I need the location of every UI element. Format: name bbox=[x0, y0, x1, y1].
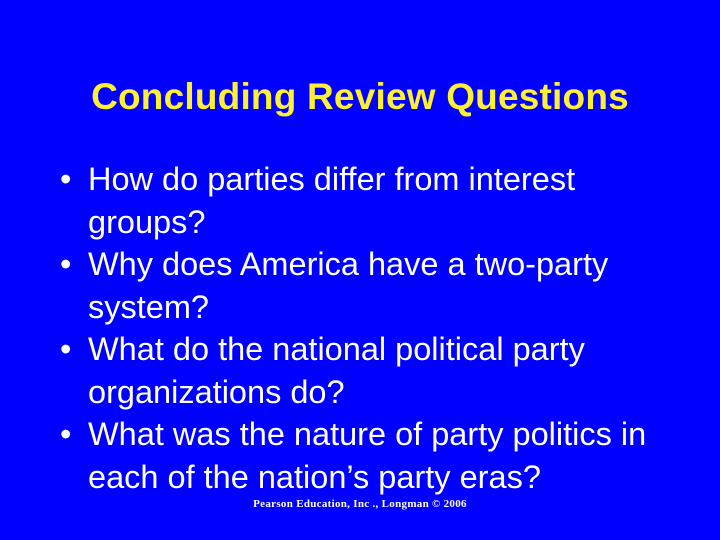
copyright-footer: Pearson Education, Inc ., Longman © 2006 bbox=[0, 497, 720, 511]
presentation-slide: Concluding Review Questions • How do par… bbox=[0, 0, 720, 540]
list-item: • How do parties differ from interest gr… bbox=[56, 158, 676, 243]
page-title: Concluding Review Questions bbox=[0, 76, 720, 118]
list-item-label: Why does America have a two-party system… bbox=[88, 246, 608, 325]
list-item-label: What do the national political party org… bbox=[88, 331, 585, 410]
list-item: • What do the national political party o… bbox=[56, 328, 676, 413]
bullet-point-icon: • bbox=[60, 243, 78, 286]
list-item: • What was the nature of party politics … bbox=[56, 413, 676, 498]
list-item-label: How do parties differ from interest grou… bbox=[88, 161, 575, 240]
question-list: • How do parties differ from interest gr… bbox=[56, 158, 676, 498]
bullet-point-icon: • bbox=[60, 328, 78, 371]
bullet-point-icon: • bbox=[60, 413, 78, 456]
bullet-point-icon: • bbox=[60, 158, 78, 201]
list-item: • Why does America have a two-party syst… bbox=[56, 243, 676, 328]
list-item-label: What was the nature of party politics in… bbox=[88, 416, 646, 495]
